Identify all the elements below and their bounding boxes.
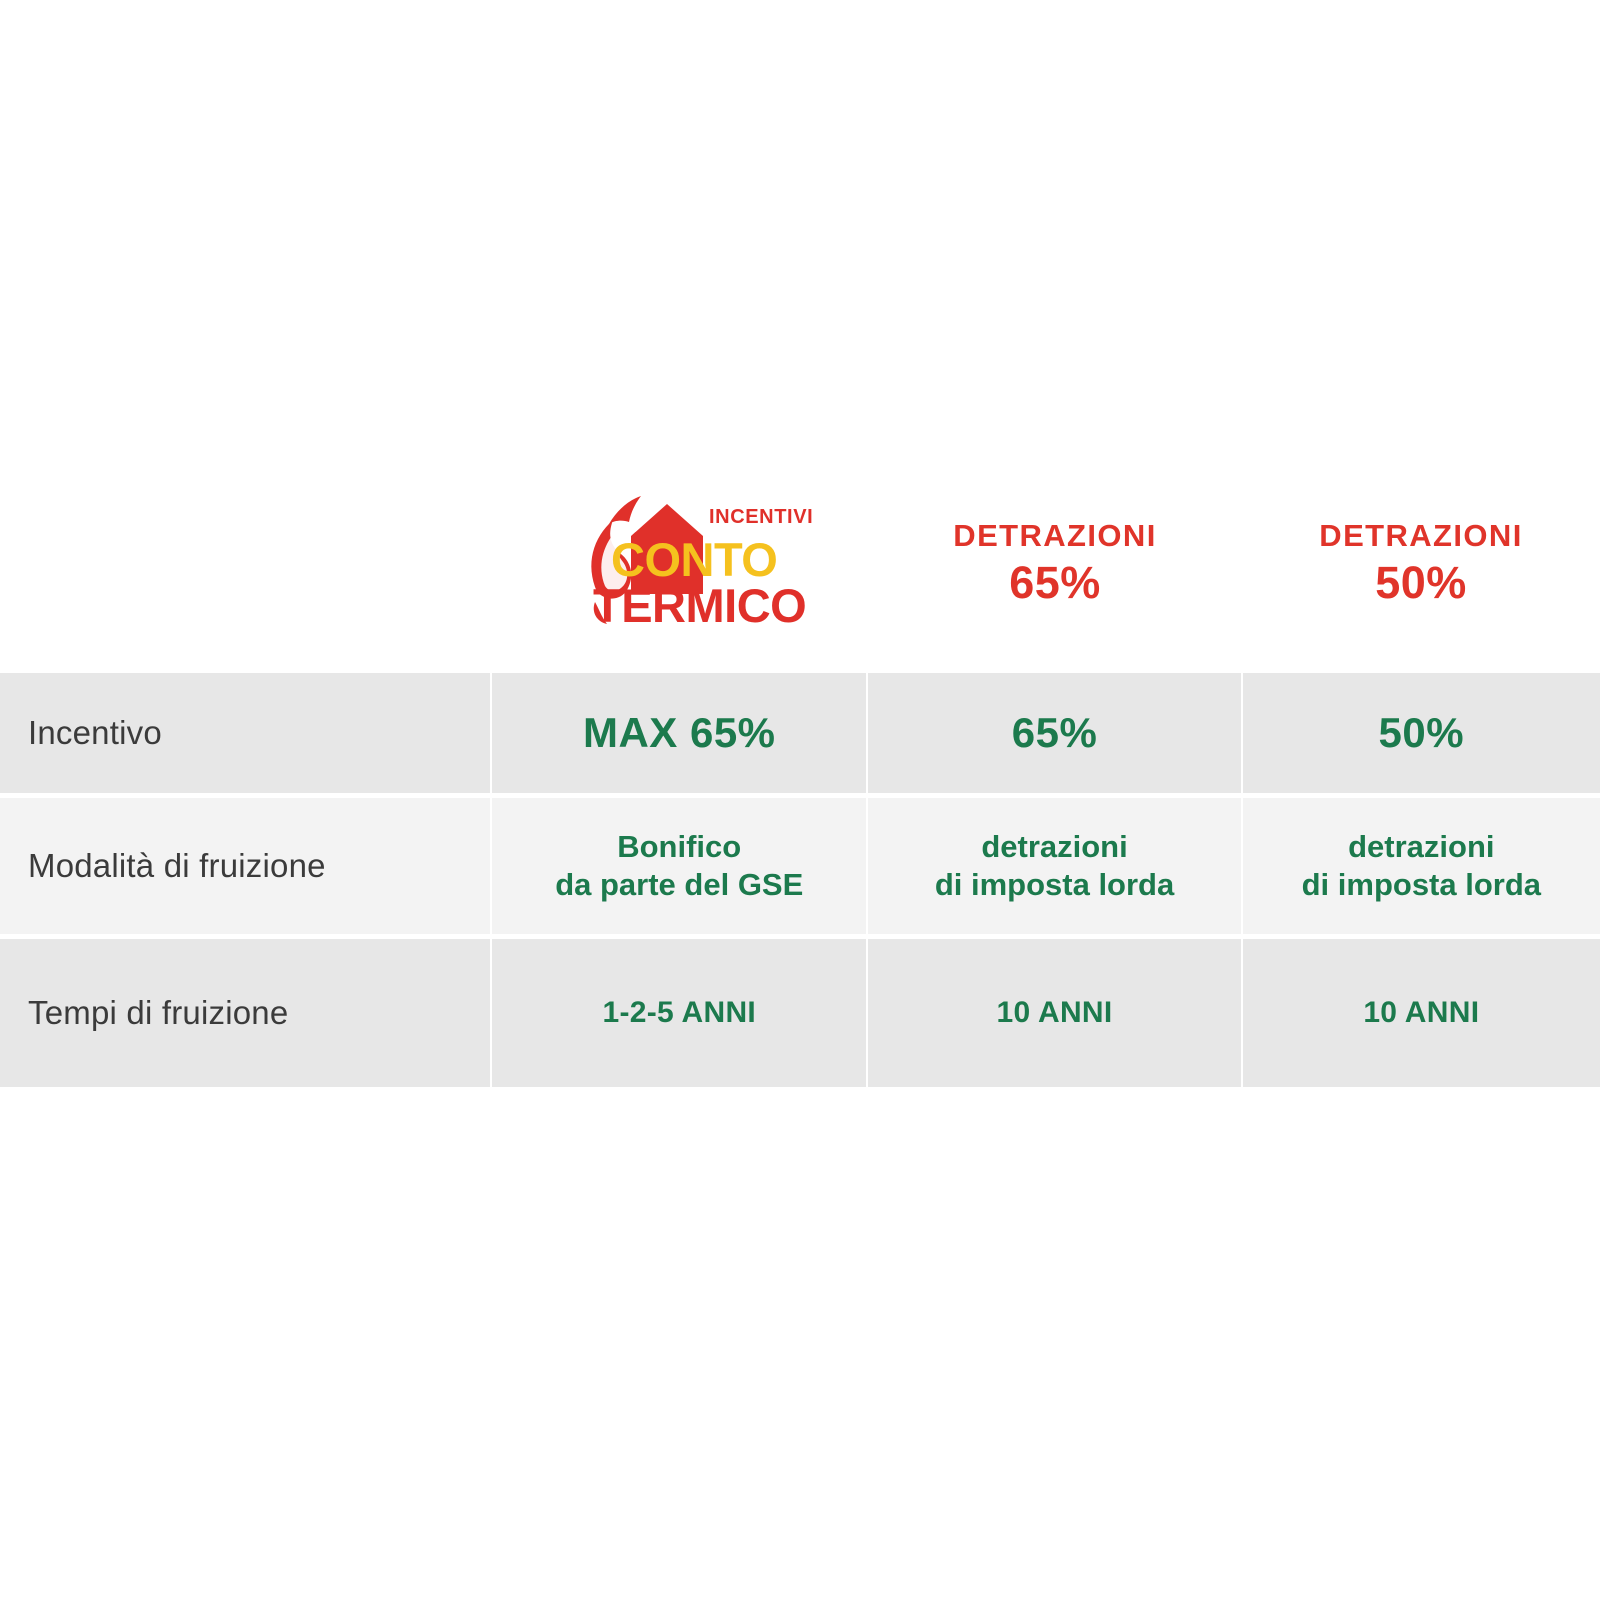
row-label: Tempi di fruizione xyxy=(28,994,288,1032)
cell-value-line1: Bonifico xyxy=(555,828,803,866)
logo-word-termico: TERMICO xyxy=(593,579,806,632)
cell-detrazioni-65: 10 ANNI xyxy=(868,939,1240,1087)
detrazioni-65-word: DETRAZIONI xyxy=(953,520,1156,553)
row-label-cell: Tempi di fruizione xyxy=(0,939,490,1087)
cell-value: MAX 65% xyxy=(583,707,776,758)
cell-value: 50% xyxy=(1379,707,1465,758)
cell-detrazioni-50: detrazioni di imposta lorda xyxy=(1243,798,1600,934)
cell-conto-termico: Bonifico da parte del GSE xyxy=(492,798,866,934)
cell-value-line1: detrazioni xyxy=(935,828,1174,866)
cell-value-line2: di imposta lorda xyxy=(1302,866,1541,904)
row-label: Incentivo xyxy=(28,714,162,752)
row-label-cell: Incentivo xyxy=(0,673,490,793)
logo-tagline: INCENTIVI xyxy=(709,506,813,528)
conto-termico-logo: INCENTIVI CONTO TERMICO xyxy=(535,490,825,636)
comparison-table-page: INCENTIVI CONTO TERMICO DETRAZIONI 65% D… xyxy=(0,0,1600,1600)
detrazioni-50-percent: 50% xyxy=(1319,559,1522,606)
header-cell-detrazioni-65: DETRAZIONI 65% xyxy=(868,488,1242,638)
header-cell-empty xyxy=(0,488,492,638)
table-row: Incentivo MAX 65% 65% 50% xyxy=(0,673,1600,793)
comparison-table: Incentivo MAX 65% 65% 50% Modalità di fr… xyxy=(0,673,1600,1092)
table-row: Tempi di fruizione 1-2-5 ANNI 10 ANNI 10… xyxy=(0,939,1600,1087)
cell-detrazioni-50: 50% xyxy=(1243,673,1600,793)
detrazioni-50-word: DETRAZIONI xyxy=(1319,520,1522,553)
row-label-cell: Modalità di fruizione xyxy=(0,798,490,934)
cell-detrazioni-65: detrazioni di imposta lorda xyxy=(868,798,1240,934)
cell-value-line2: da parte del GSE xyxy=(555,866,803,904)
table-header-row: INCENTIVI CONTO TERMICO DETRAZIONI 65% D… xyxy=(0,488,1600,638)
cell-value-line2: di imposta lorda xyxy=(935,866,1174,904)
header-cell-conto-termico: INCENTIVI CONTO TERMICO xyxy=(492,488,868,638)
cell-value: 10 ANNI xyxy=(1363,995,1479,1032)
detrazioni-65-percent: 65% xyxy=(953,559,1156,606)
cell-value: 1-2-5 ANNI xyxy=(602,995,756,1032)
flame-tip-icon xyxy=(609,496,641,524)
cell-value: 10 ANNI xyxy=(997,995,1113,1032)
table-row: Modalità di fruizione Bonifico da parte … xyxy=(0,798,1600,934)
cell-conto-termico: 1-2-5 ANNI xyxy=(492,939,866,1087)
cell-detrazioni-50: 10 ANNI xyxy=(1243,939,1600,1087)
row-label: Modalità di fruizione xyxy=(28,847,326,885)
header-cell-detrazioni-50: DETRAZIONI 50% xyxy=(1242,488,1600,638)
cell-value-line1: detrazioni xyxy=(1302,828,1541,866)
cell-conto-termico: MAX 65% xyxy=(492,673,866,793)
logo-svg: INCENTIVI CONTO TERMICO xyxy=(535,490,825,636)
cell-detrazioni-65: 65% xyxy=(868,673,1240,793)
cell-value: 65% xyxy=(1012,707,1098,758)
